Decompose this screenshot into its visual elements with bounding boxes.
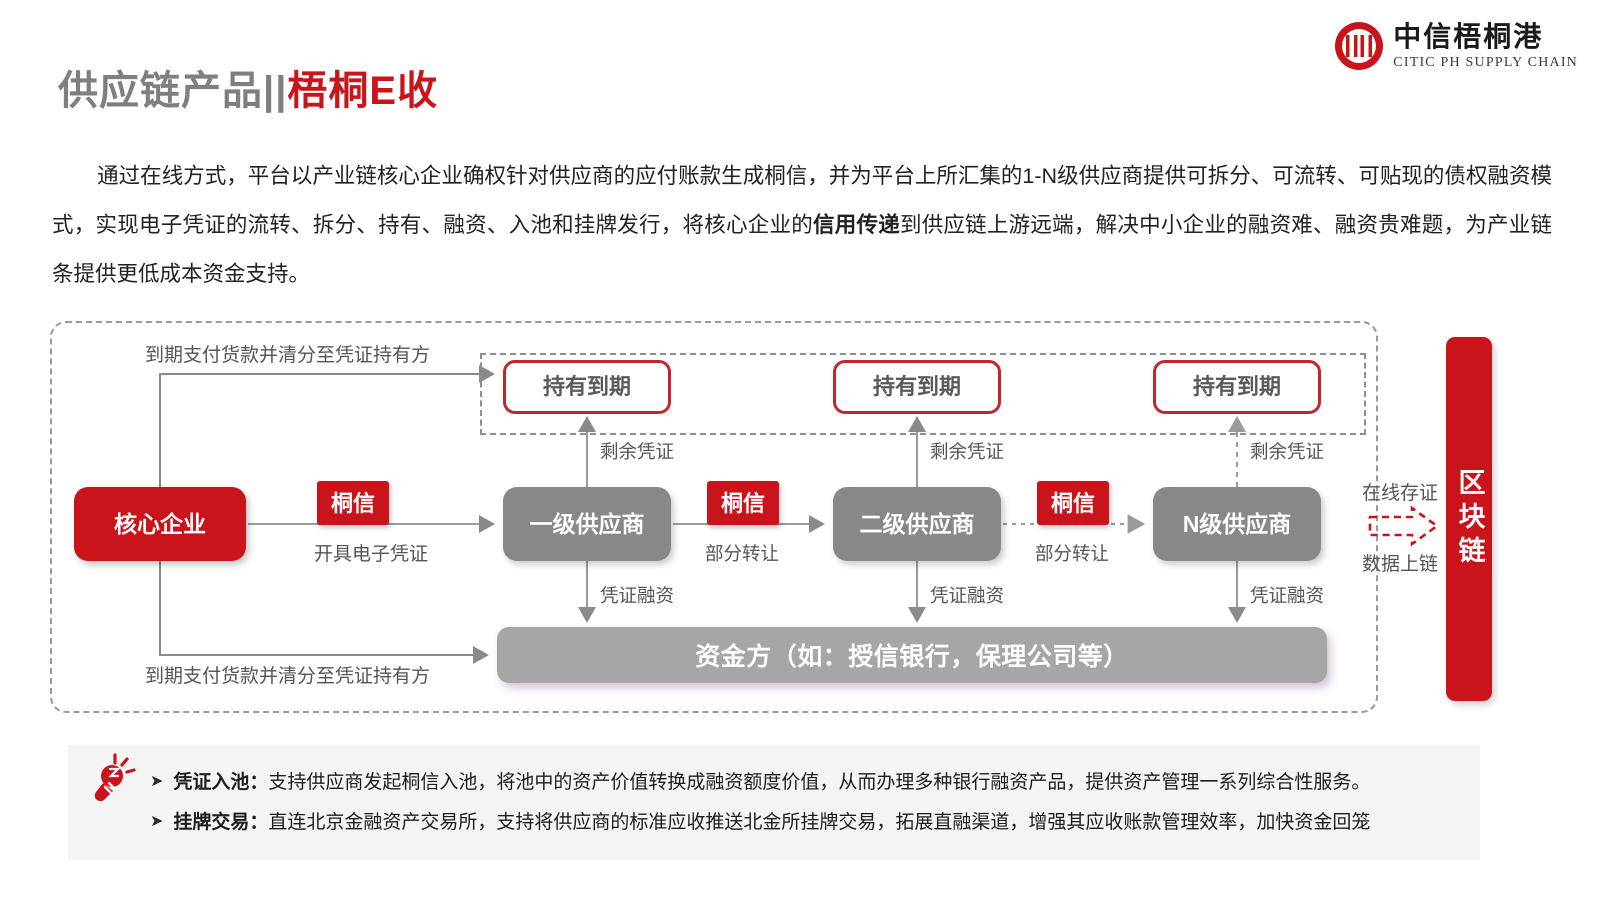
badge-tongxin-1: 桐信 <box>317 481 389 525</box>
node-supplier-tier-1[interactable]: 一级供应商 <box>503 487 671 561</box>
brand-name-en: CITIC PH SUPPLY CHAIN <box>1393 56 1578 70</box>
note-item-1-title: 凭证入池： <box>173 772 268 793</box>
notes-panel <box>68 745 1480 860</box>
chevron-right-bullet-icon: ➤ <box>150 813 163 831</box>
brand-text: 中信梧桐港 CITIC PH SUPPLY CHAIN <box>1393 23 1578 70</box>
label-residual-voucher-3: 剩余凭证 <box>1250 443 1324 462</box>
note-item-2: ➤ 挂牌交易：直连北京金融资产交易所，支持将供应商的标准应收推送北金所挂牌交易，… <box>150 813 1370 832</box>
brand-name-cn: 中信梧桐港 <box>1393 23 1578 51</box>
label-issue-voucher: 开具电子凭证 <box>314 545 428 564</box>
label-voucher-finance-2: 凭证融资 <box>930 587 1004 606</box>
node-supplier-tier-n[interactable]: N级供应商 <box>1153 487 1321 561</box>
node-hold-to-maturity-3[interactable]: 持有到期 <box>1153 360 1321 414</box>
label-bottom-settlement: 到期支付货款并清分至凭证持有方 <box>145 667 430 686</box>
note-item-2-text: 直连北京金融资产交易所，支持将供应商的标准应收推送北金所挂牌交易，拓展直融渠道，… <box>268 812 1370 833</box>
brand-logo: 中信梧桐港 CITIC PH SUPPLY CHAIN <box>1335 22 1578 70</box>
page-title-accent: 梧桐E收 <box>287 69 438 113</box>
flow-diagram-container: 持有到期 持有到期 持有到期 核心企业 一级供应商 二级供应商 N级供应商 资金… <box>50 321 1378 713</box>
label-partial-transfer-1: 部分转让 <box>705 545 779 564</box>
label-voucher-finance-1: 凭证融资 <box>600 587 674 606</box>
node-hold-to-maturity-1[interactable]: 持有到期 <box>503 360 671 414</box>
intro-paragraph: 通过在线方式，平台以产业链核心企业确权针对供应商的应付账款生成桐信，并为平台上所… <box>52 152 1552 299</box>
node-blockchain[interactable]: 区块链 <box>1446 337 1492 701</box>
label-residual-voucher-2: 剩余凭证 <box>930 443 1004 462</box>
label-partial-transfer-2: 部分转让 <box>1035 545 1109 564</box>
dashed-right-arrow-icon <box>1368 505 1440 547</box>
page-title-primary: 供应链产品|| <box>58 69 287 113</box>
note-item-1: ➤ 凭证入池：支持供应商发起桐信入池，将池中的资产价值转换成融资额度价值，从而办… <box>150 773 1370 792</box>
chevron-right-bullet-icon: ➤ <box>150 773 163 791</box>
badge-tongxin-2: 桐信 <box>707 481 779 525</box>
label-residual-voucher-1: 剩余凭证 <box>600 443 674 462</box>
intro-bold-phrase: 信用传递 <box>813 213 900 237</box>
lightbulb-idea-icon <box>92 752 144 804</box>
label-online-notarization: 在线存证 <box>1362 478 1438 505</box>
node-funder[interactable]: 资金方（如：授信银行，保理公司等） <box>497 627 1327 683</box>
node-core-enterprise[interactable]: 核心企业 <box>74 487 246 561</box>
node-blockchain-label: 区块链 <box>1456 468 1483 570</box>
label-data-on-chain: 数据上链 <box>1362 549 1438 576</box>
label-voucher-finance-3: 凭证融资 <box>1250 587 1324 606</box>
citic-circle-logo-icon <box>1335 22 1383 70</box>
node-hold-to-maturity-2[interactable]: 持有到期 <box>833 360 1001 414</box>
note-item-1-text: 支持供应商发起桐信入池，将池中的资产价值转换成融资额度价值，从而办理多种银行融资… <box>268 772 1370 793</box>
page-title: 供应链产品||梧桐E收 <box>58 58 438 116</box>
badge-tongxin-3: 桐信 <box>1037 481 1109 525</box>
label-top-settlement: 到期支付货款并清分至凭证持有方 <box>145 346 430 365</box>
node-supplier-tier-2[interactable]: 二级供应商 <box>833 487 1001 561</box>
note-item-2-title: 挂牌交易： <box>173 812 268 833</box>
